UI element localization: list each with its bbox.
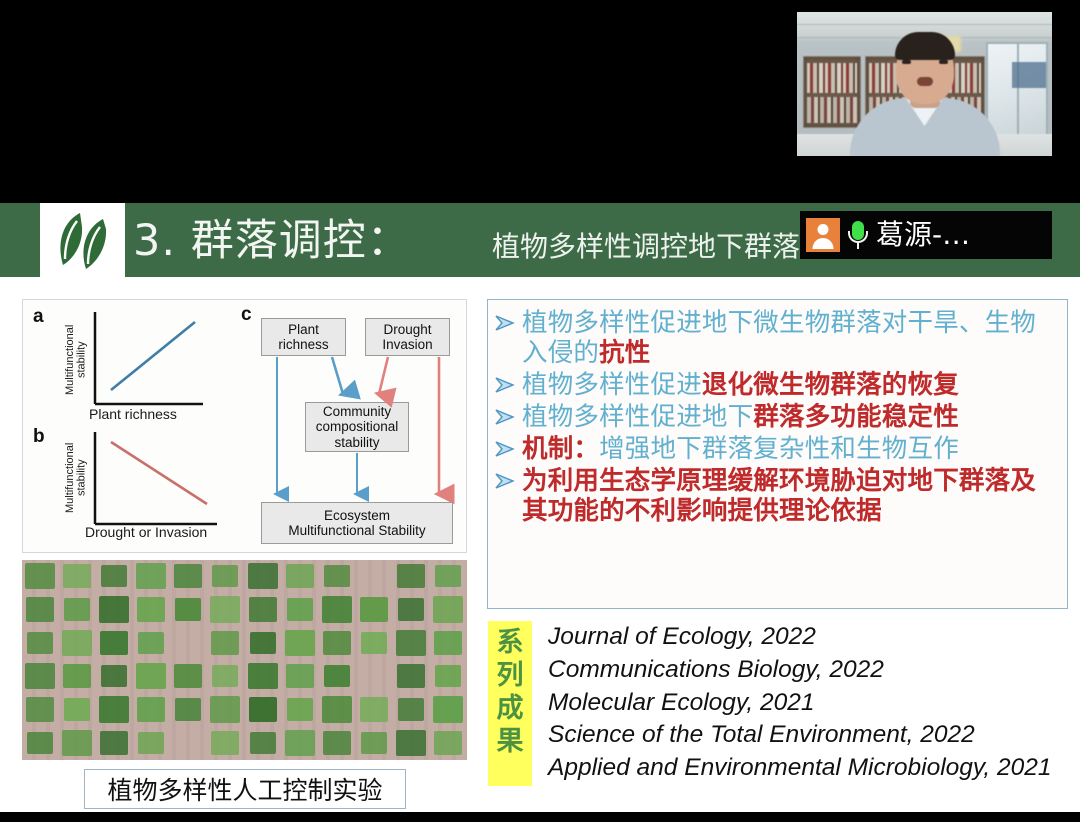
bullet-segment: 增强地下群落复杂性和生物互作 [599,434,959,464]
experiment-plot [396,730,426,756]
bullet-arrow-icon [494,466,522,495]
bullet-arrow-icon [494,308,522,337]
bullet-segment: 抗性 [599,338,650,368]
flow-arrows [245,306,463,550]
experiment-plot [323,631,351,655]
experiment-plot [27,632,53,654]
badge-char: 列 [488,660,532,693]
experiment-plot [435,565,461,587]
experiment-plot [285,730,315,756]
experiment-plot [212,665,238,687]
figure-panel: a b c Multifunctional stability Plant ri… [22,299,467,553]
badge-char: 果 [488,726,532,759]
experiment-plot [322,596,352,622]
figure-label-b: b [33,426,45,448]
bullet-text: 机制：增强地下群落复杂性和生物互作 [522,434,959,464]
experiment-plot [285,630,315,656]
leaf-logo-icon [40,203,125,277]
badge-char: 成 [488,693,532,726]
experiment-plot [174,664,202,688]
bullet-segment: 植物多样性促进 [522,370,702,400]
experiment-plot [26,697,54,721]
experiment-plot [25,663,55,689]
photo-caption: 植物多样性人工控制实验 [84,769,406,809]
experiment-plot [100,731,128,755]
meeting-screen-share: 3. 群落调控： 植物多样性调控地下群落稳定性 葛源-… a b c Multi… [0,0,1080,822]
experiment-plot [322,696,352,722]
experiment-plot [137,697,165,721]
experiment-plot [211,631,239,655]
journal-entry: Applied and Environmental Microbiology, … [548,752,1051,785]
experiment-plot [26,597,54,621]
bullet-arrow-icon [494,434,522,463]
experiment-plot [138,732,164,754]
experiment-plot [249,597,277,621]
journal-entry: Journal of Ecology, 2022 [548,621,1051,654]
experiment-plot [212,565,238,587]
flow-diagram-panel-c: Plantrichness DroughtInvasion Communityc… [245,306,463,550]
bullet-text: 植物多样性促进地下微生物群落对干旱、生物入侵的抗性 [522,308,1061,368]
badge-char: 系 [488,627,532,660]
experiment-plot [101,565,127,587]
bullet-segment: 退化微生物群落的恢复 [702,370,959,400]
experiment-plot [211,731,239,755]
experiment-plot [62,730,92,756]
key-findings-panel: 植物多样性促进地下微生物群落对干旱、生物入侵的抗性植物多样性促进退化微生物群落的… [487,299,1068,609]
experiment-plot [360,597,388,621]
participant-name-overlay[interactable]: 葛源-… [800,211,1052,259]
bullet-segment: 机制： [522,434,599,464]
experiment-plot [210,596,240,622]
bullet-segment: 群落多功能稳定性 [753,402,959,432]
experiment-plot [27,732,53,754]
bullet-segment: 植物多样性促进地下 [522,402,753,432]
presentation-slide: 3. 群落调控： 植物多样性调控地下群落稳定性 葛源-… a b c Multi… [0,203,1080,812]
chart-b-xlabel: Drought or Invasion [85,524,207,540]
person-avatar-icon [806,218,840,252]
experiment-plot [136,663,166,689]
experiment-plot [250,632,276,654]
experiment-plot [99,696,129,722]
slide-title: 3. 群落调控： [133,206,411,268]
experiment-plot [433,596,463,622]
experiment-plot [101,665,127,687]
bullet-text: 植物多样性促进地下群落多功能稳定性 [522,402,959,432]
journal-entry: Communications Biology, 2022 [548,654,1051,687]
publications-section: 系列成果 Journal of Ecology, 2022Communicati… [488,621,1068,801]
experiment-plot [397,564,425,588]
experiment-plot [175,598,201,620]
microphone-icon[interactable] [846,218,870,252]
experiment-plot [397,664,425,688]
chart-panel-b: Multifunctional stability Drought or Inv… [67,428,227,546]
bullet-item: 为利用生态学原理缓解环境胁迫对地下群落及其功能的不利影响提供理论依据 [494,466,1061,526]
bullet-arrow-icon [494,370,522,399]
experiment-plot [25,563,55,589]
experiment-plot [64,598,90,620]
bullet-text: 植物多样性促进退化微生物群落的恢复 [522,370,959,400]
experiment-plot [396,630,426,656]
experiment-plot [434,631,462,655]
bullet-item: 植物多样性促进地下群落多功能稳定性 [494,402,1061,432]
bullet-item: 植物多样性促进退化微生物群落的恢复 [494,370,1061,400]
bullet-arrow-icon [494,402,522,431]
participant-name-label: 葛源-… [876,221,970,249]
experiment-plot [63,664,91,688]
experiment-plot [137,597,165,621]
experiment-plot [248,563,278,589]
letterbox-bottom [0,812,1080,822]
experiment-plot [249,697,277,721]
experiment-plot [100,631,128,655]
bullet-item: 植物多样性促进地下微生物群落对干旱、生物入侵的抗性 [494,308,1061,368]
bullet-segment: 为利用生态学原理缓解环境胁迫对地下群落及其功能的不利影响提供理论依据 [522,466,1036,526]
experiment-plot [287,698,313,720]
experiment-plot [324,565,350,587]
experiment-plot [286,564,314,588]
experiment-plot [324,665,350,687]
experiment-plot [248,663,278,689]
experiment-plot [323,731,351,755]
experiment-plot [138,632,164,654]
experiment-plot [398,598,424,620]
experiment-plot [286,664,314,688]
journal-entry: Molecular Ecology, 2021 [548,687,1051,720]
experiment-plot [287,598,313,620]
experiment-plot [361,632,387,654]
experiment-plot [63,564,91,588]
experiment-plot [62,630,92,656]
experiment-plot [175,698,201,720]
experiment-plot [210,696,240,722]
experiment-plot [361,732,387,754]
experiment-plot [250,732,276,754]
experiment-plot [99,596,129,622]
experiment-plot [64,698,90,720]
experiment-plot [435,665,461,687]
experiment-plot [174,564,202,588]
aerial-experiment-photo [22,560,467,760]
webcam-video-thumbnail[interactable] [797,12,1052,156]
experiment-plot [434,731,462,755]
figure-label-a: a [33,306,44,328]
results-badge: 系列成果 [488,621,532,786]
chart-a-xlabel: Plant richness [89,406,177,422]
experiment-plot [136,563,166,589]
experiment-plot [433,696,463,722]
bullet-text: 为利用生态学原理缓解环境胁迫对地下群落及其功能的不利影响提供理论依据 [522,466,1061,526]
chart-panel-a: Multifunctional stability Plant richness [67,308,207,420]
bullet-item: 机制：增强地下群落复杂性和生物互作 [494,434,1061,464]
experiment-plot [398,698,424,720]
journal-entry: Science of the Total Environment, 2022 [548,719,1051,752]
journal-list: Journal of Ecology, 2022Communications B… [548,621,1051,785]
experiment-plot [360,697,388,721]
